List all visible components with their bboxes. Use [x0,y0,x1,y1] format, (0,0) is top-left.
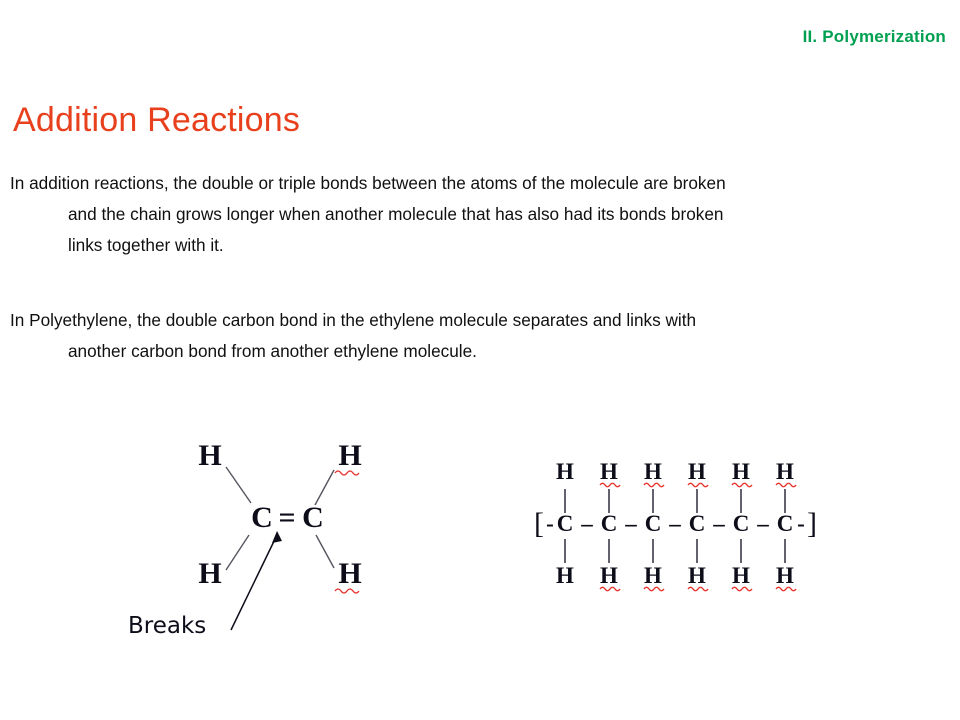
polymer-bond-dash-4: – [712,511,725,536]
polymer-hydrogen-top-3: H [644,459,662,484]
ethylene-hydrogen-top-left: H [198,439,221,472]
polymer-hydrogen-bottom-2: H [600,563,618,588]
polymer-hydrogen-top-1: H [556,459,574,484]
paragraph-2-line-1: In Polyethylene, the double carbon bond … [10,305,940,336]
polymer-bracket-open: [ [534,507,544,540]
bond-h-topleft [226,467,251,503]
polymer-hydrogen-top-6: H [776,459,794,484]
ethylene-hydrogen-top-right: H [338,439,361,472]
paragraph-1-line-3: links together with it. [10,230,940,261]
bond-h-bottomright [316,535,334,568]
ethylene-double-bond: = [278,501,295,534]
page-title: Addition Reactions [13,101,300,140]
bond-h-topright [315,470,334,505]
paragraph-1-line-2: and the chain grows longer when another … [10,199,940,230]
bond-h-bottomleft [226,535,249,570]
ethylene-carbon-right: C [302,501,324,534]
polymer-hydrogen-bottom-4: H [688,563,706,588]
polymer-bracket-close: ] [807,507,817,540]
breaks-annotation-label: Breaks [128,613,206,639]
polymer-bond-dash-5: – [756,511,769,536]
polymer-bond-dash-3: – [668,511,681,536]
polymer-carbon-4: C [689,511,706,536]
polymer-carbon-2: C [601,511,618,536]
polymer-dash-open: - [546,511,554,536]
polymer-hydrogen-bottom-6: H [776,563,794,588]
body-paragraph-1: In addition reactions, the double or tri… [10,168,940,261]
polymer-bond-dash-1: – [580,511,593,536]
ethylene-hydrogen-bottom-left: H [198,557,221,590]
polymer-hydrogen-top-4: H [688,459,706,484]
polymer-hydrogen-bottom-1: H [556,563,574,588]
paragraph-1-line-1: In addition reactions, the double or tri… [10,168,940,199]
body-paragraph-2: In Polyethylene, the double carbon bond … [10,305,940,367]
polymer-carbon-3: C [645,511,662,536]
ethylene-carbon-left: C [251,501,273,534]
ethylene-svg: H H C = C H H Breaks [110,425,400,660]
polymer-dash-close: - [797,511,805,536]
polyethylene-svg: [ - C H H – C H H – C H H – C H H [515,455,825,595]
breaks-arrow-shaft [231,535,277,630]
ethylene-hydrogen-bottom-right: H [338,557,361,590]
polymer-hydrogen-bottom-3: H [644,563,662,588]
polymer-carbon-5: C [733,511,750,536]
ethylene-molecule-diagram: H H C = C H H Breaks [110,425,400,660]
polymer-bond-dash-2: – [624,511,637,536]
polymer-hydrogen-bottom-5: H [732,563,750,588]
polyethylene-chain-diagram: [ - C H H – C H H – C H H – C H H [515,455,825,595]
slide-header-label: II. Polymerization [803,27,946,47]
polymer-hydrogen-top-5: H [732,459,750,484]
polymer-carbon-6: C [777,511,794,536]
paragraph-2-line-2: another carbon bond from another ethylen… [10,336,940,367]
polymer-carbon-1: C [557,511,574,536]
polymer-hydrogen-top-2: H [600,459,618,484]
